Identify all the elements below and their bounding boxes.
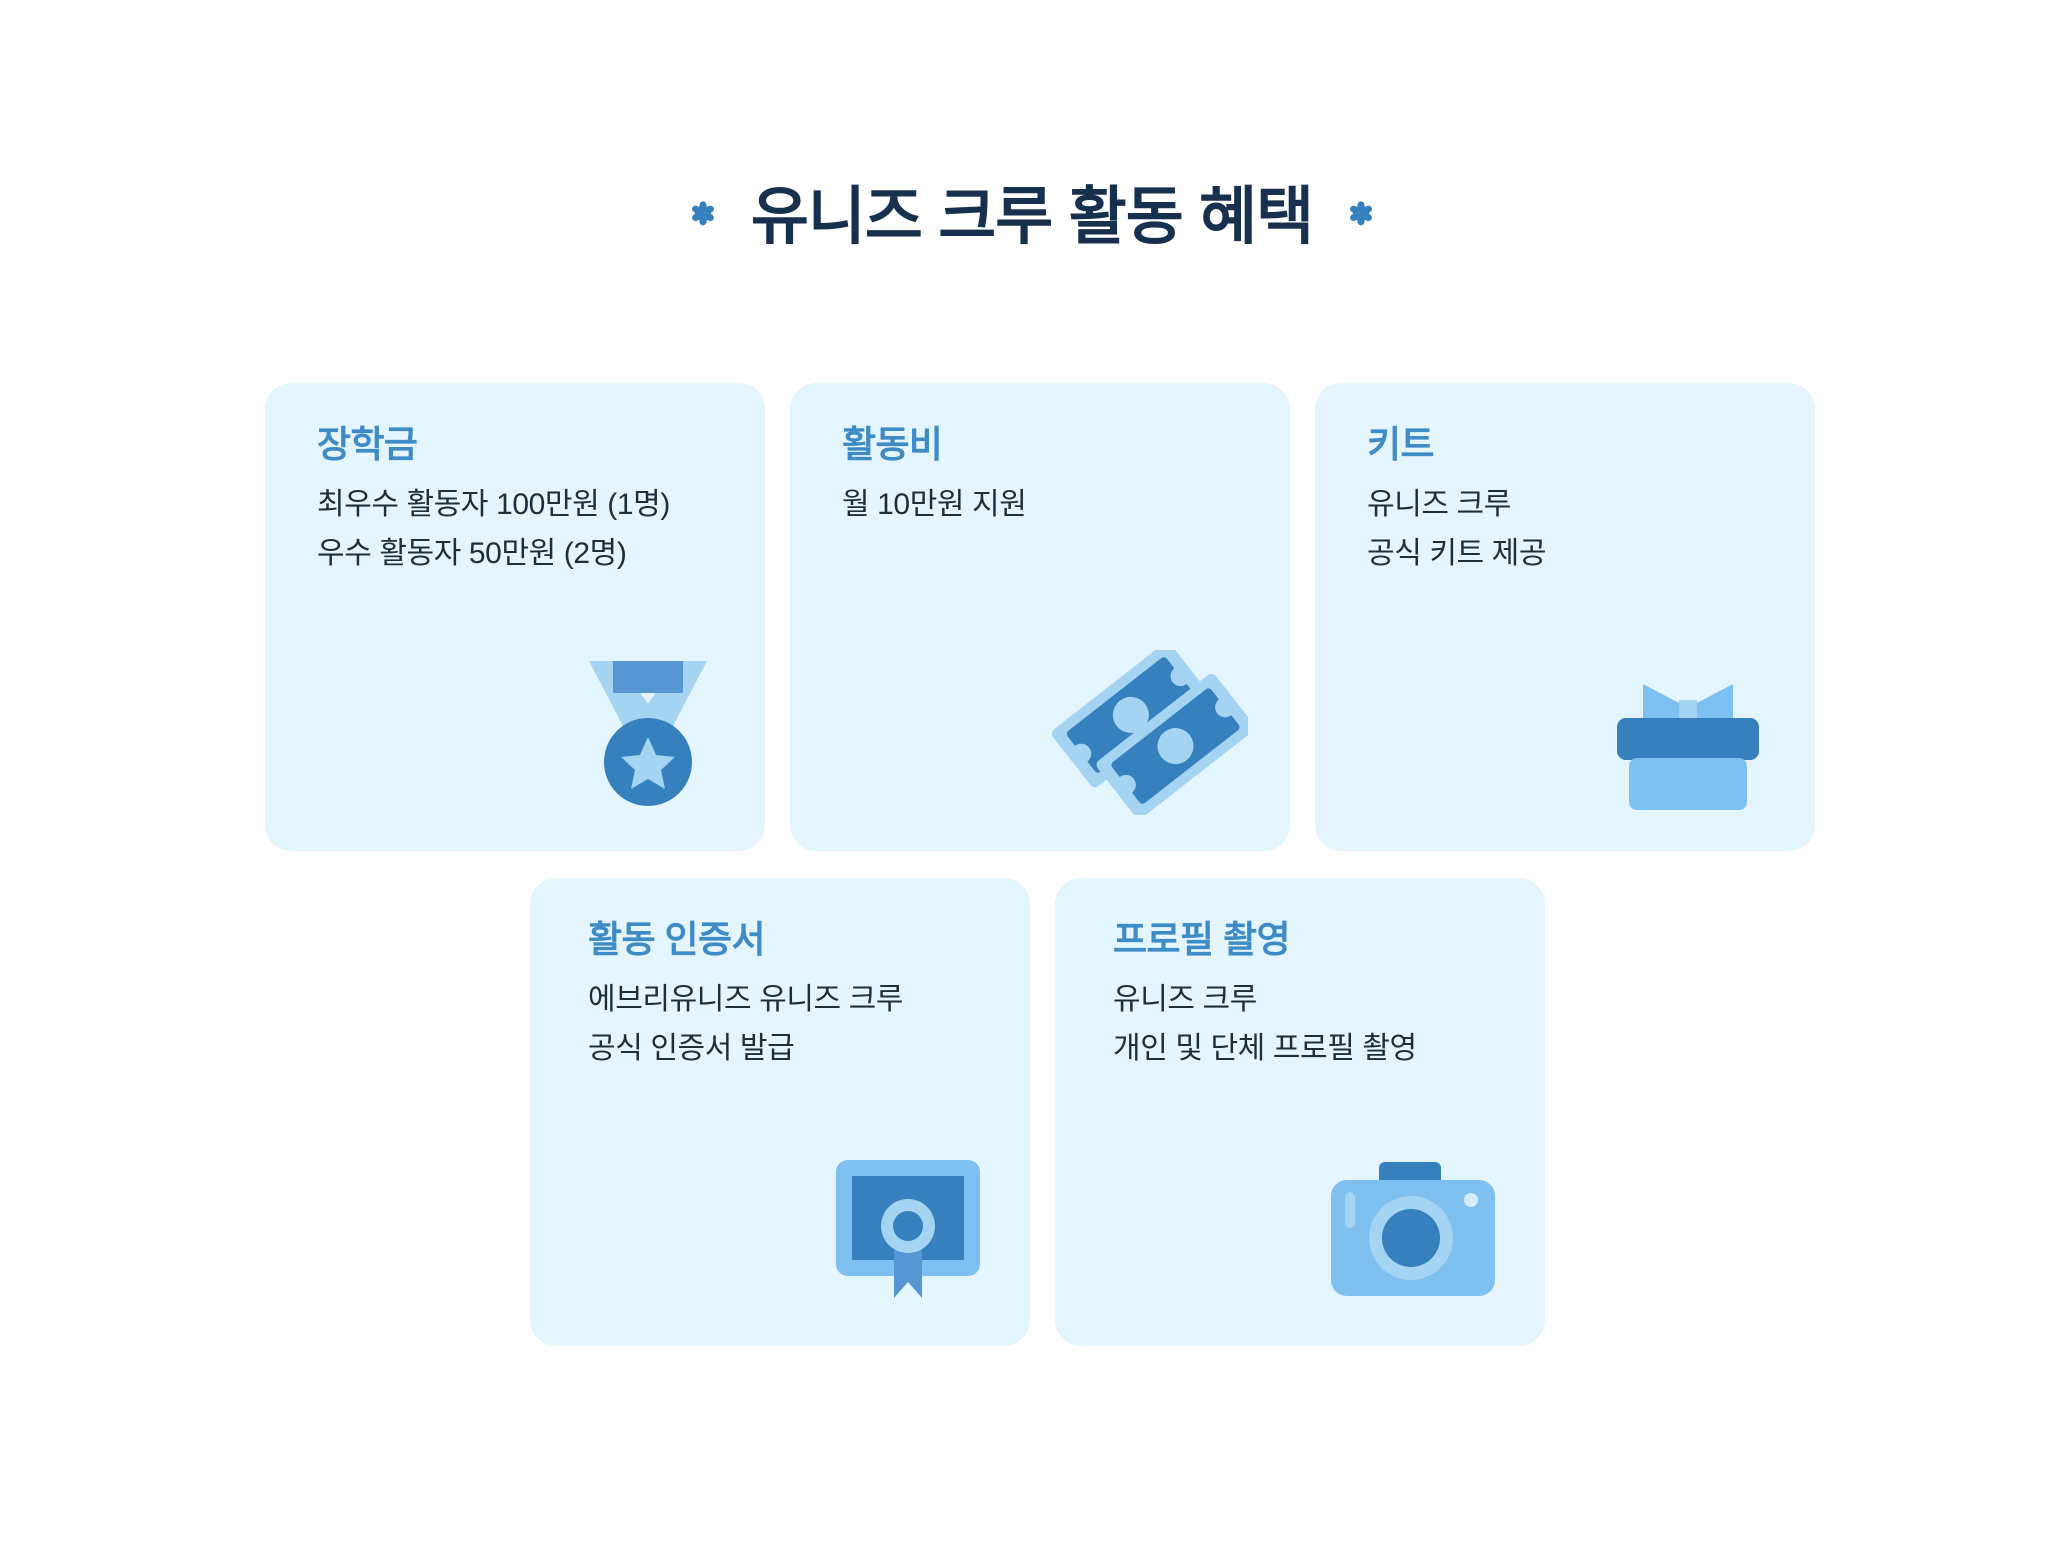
benefit-card-title: 키트 xyxy=(1367,425,1434,466)
benefit-card-line: 최우수 활동자 100만원 (1명) xyxy=(317,481,670,530)
sparkle-icon-right xyxy=(1343,200,1379,236)
benefit-card-scholarship: 장학금 최우수 활동자 100만원 (1명) 우수 활동자 50만원 (2명) xyxy=(265,383,765,851)
benefit-card-line: 우수 활동자 50만원 (2명) xyxy=(317,530,670,579)
page-title-row: 유니즈 크루 활동 혜택 xyxy=(0,186,2064,249)
benefit-card-title: 활동비 xyxy=(842,425,942,466)
benefit-card-kit: 키트 유니즈 크루 공식 키트 제공 xyxy=(1315,383,1815,851)
benefit-card-body: 월 10만원 지원 xyxy=(842,481,1026,530)
benefit-card-line: 월 10만원 지원 xyxy=(842,481,1026,530)
benefit-card-title: 장학금 xyxy=(317,425,417,466)
benefit-card-title: 활동 인증서 xyxy=(588,920,765,961)
gift-icon xyxy=(1603,660,1773,815)
benefit-card-profile-photo: 프로필 촬영 유니즈 크루 개인 및 단체 프로필 촬영 xyxy=(1055,878,1545,1346)
benefit-card-line: 에브리유니즈 유니즈 크루 xyxy=(588,976,903,1025)
camera-icon xyxy=(1323,1158,1503,1310)
sparkle-icon-left xyxy=(685,200,721,236)
benefit-card-activity-fee: 활동비 월 10만원 지원 xyxy=(790,383,1290,851)
icon-anchor xyxy=(1323,1158,1503,1310)
benefit-card-body: 유니즈 크루 개인 및 단체 프로필 촬영 xyxy=(1113,976,1417,1073)
icon-anchor xyxy=(1048,650,1248,815)
medal-icon xyxy=(573,645,723,815)
benefit-card-line: 유니즈 크루 xyxy=(1113,976,1417,1025)
benefit-card-line: 공식 인증서 발급 xyxy=(588,1025,903,1074)
page-title: 유니즈 크루 활동 혜택 xyxy=(751,186,1313,249)
benefit-card-body: 최우수 활동자 100만원 (1명) 우수 활동자 50만원 (2명) xyxy=(317,481,670,578)
benefit-card-line: 공식 키트 제공 xyxy=(1367,530,1546,579)
benefit-card-body: 유니즈 크루 공식 키트 제공 xyxy=(1367,481,1546,578)
benefit-card-line: 유니즈 크루 xyxy=(1367,481,1546,530)
benefit-card-body: 에브리유니즈 유니즈 크루 공식 인증서 발급 xyxy=(588,976,903,1073)
benefits-page: 유니즈 크루 활동 혜택 장학금 최우수 활동자 100만원 (1명) 우수 활… xyxy=(0,0,2064,1543)
money-icon xyxy=(1048,650,1248,815)
benefit-card-line: 개인 및 단체 프로필 촬영 xyxy=(1113,1025,1417,1074)
icon-anchor xyxy=(828,1150,988,1310)
benefit-card-certificate: 활동 인증서 에브리유니즈 유니즈 크루 공식 인증서 발급 xyxy=(530,878,1030,1346)
certificate-icon xyxy=(828,1150,988,1310)
icon-anchor xyxy=(1603,660,1773,815)
benefit-card-title: 프로필 촬영 xyxy=(1113,920,1290,961)
icon-anchor xyxy=(573,645,723,815)
